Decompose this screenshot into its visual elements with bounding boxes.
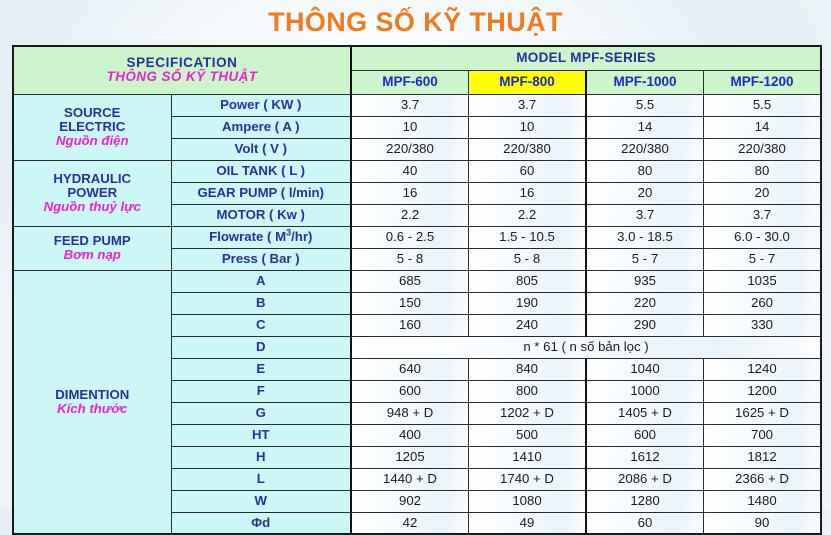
value-cell: 935: [586, 270, 704, 292]
value-cell: 220/380: [351, 138, 469, 160]
parameter-label: A: [256, 273, 266, 288]
table-body: SPECIFICATIONTHÔNG SỐ KỸ THUẬTMODEL MPF-…: [13, 46, 821, 534]
cell-value: 1405 + D: [618, 405, 672, 420]
cell-value: 1.5 - 10.5: [499, 229, 555, 244]
cell-value: 14: [755, 119, 770, 134]
cell-value: 500: [516, 427, 538, 442]
value-cell: 40: [351, 160, 469, 182]
value-cell: 220: [586, 292, 704, 314]
cell-value: 16: [520, 185, 535, 200]
cell-value: 3.7: [636, 207, 654, 222]
cell-value: 220/380: [738, 141, 786, 156]
parameter-label-cell: GEAR PUMP ( l/min): [171, 182, 351, 204]
cell-value: 5.5: [636, 97, 654, 112]
cell-value: 805: [516, 273, 538, 288]
value-cell: 60: [469, 160, 587, 182]
parameter-label: C: [256, 317, 266, 332]
value-cell: 16: [351, 182, 469, 204]
cell-value: 3.0 - 18.5: [617, 229, 673, 244]
value-cell: 948 + D: [351, 402, 469, 424]
parameter-label-cell: Ampere ( A ): [171, 116, 351, 138]
cell-value: 220/380: [503, 141, 551, 156]
value-cell: 1625 + D: [704, 402, 822, 424]
specification-label-en: SPECIFICATION: [17, 56, 347, 70]
value-cell: 1480: [704, 490, 822, 512]
model-series-label: MODEL MPF-SERIES: [516, 50, 656, 65]
value-cell: 49: [469, 512, 587, 534]
value-cell: 1405 + D: [586, 402, 704, 424]
value-cell: 1740 + D: [469, 468, 587, 490]
cell-value: 3.7: [518, 97, 536, 112]
value-cell: 600: [351, 380, 469, 402]
specification-label-vi: THÔNG SỐ KỸ THUẬT: [17, 70, 347, 84]
model-column-header-mpf-1200[interactable]: MPF-1200: [704, 70, 822, 94]
parameter-label: Ampere ( A ): [222, 119, 299, 134]
value-cell: 1812: [704, 446, 822, 468]
cell-value: 1202 + D: [500, 405, 554, 420]
parameter-label-cell: F: [171, 380, 351, 402]
cell-value: 1200: [747, 383, 776, 398]
parameter-label: Φd: [251, 515, 270, 530]
cell-value: 2366 + D: [735, 471, 789, 486]
parameter-label: HT: [252, 427, 270, 442]
value-cell: 1080: [469, 490, 587, 512]
value-cell: 10: [469, 116, 587, 138]
cell-value: 60: [638, 515, 653, 530]
cell-value: 2086 + D: [618, 471, 672, 486]
table-row: DIMENTIONKích thướcA6858059351035: [13, 270, 821, 292]
model-name-label: MPF-800: [499, 74, 555, 89]
value-cell: 14: [704, 116, 822, 138]
value-cell: 80: [704, 160, 822, 182]
value-cell: 1205: [351, 446, 469, 468]
value-cell: 290: [586, 314, 704, 336]
model-column-header-mpf-800[interactable]: MPF-800: [469, 70, 587, 94]
cell-value: 1812: [747, 449, 776, 464]
cell-value: 190: [516, 295, 538, 310]
value-cell: 20: [586, 182, 704, 204]
value-cell: 800: [469, 380, 587, 402]
cell-value: 640: [399, 361, 421, 376]
group-label-en: FEED PUMP: [17, 234, 168, 248]
cell-value: 600: [634, 427, 656, 442]
cell-value: 80: [638, 163, 653, 178]
value-cell: 1410: [469, 446, 587, 468]
parameter-label: G: [256, 405, 266, 420]
cell-value: 840: [516, 361, 538, 376]
cell-value: 0.6 - 2.5: [386, 229, 434, 244]
model-name-label: MPF-1000: [613, 74, 676, 89]
value-cell: 1440 + D: [351, 468, 469, 490]
cell-value: 700: [751, 427, 773, 442]
cell-value: 1240: [747, 361, 776, 376]
value-cell: 3.0 - 18.5: [586, 226, 704, 248]
cell-value: 14: [638, 119, 653, 134]
value-cell: 150: [351, 292, 469, 314]
model-column-header-mpf-600[interactable]: MPF-600: [351, 70, 469, 94]
group-label-cell-dimention: DIMENTIONKích thước: [13, 270, 171, 534]
parameter-label-cell: Volt ( V ): [171, 138, 351, 160]
cell-value: 400: [399, 427, 421, 442]
value-cell: 220/380: [469, 138, 587, 160]
specification-table-container: SPECIFICATIONTHÔNG SỐ KỸ THUẬTMODEL MPF-…: [12, 45, 820, 535]
cell-value: 948 + D: [387, 405, 434, 420]
cell-value: 1080: [512, 493, 541, 508]
cell-value: 1612: [630, 449, 659, 464]
cell-value: 20: [638, 185, 653, 200]
group-label-en-2: ELECTRIC: [17, 120, 168, 134]
value-cell: 640: [351, 358, 469, 380]
group-label-cell-source: SOURCEELECTRICNguồn điện: [13, 94, 171, 160]
value-cell: 1200: [704, 380, 822, 402]
value-cell: 1035: [704, 270, 822, 292]
model-name-label: MPF-1200: [730, 74, 793, 89]
cell-value: 1035: [747, 273, 776, 288]
value-cell: 1040: [586, 358, 704, 380]
parameter-label: Volt ( V ): [235, 141, 288, 156]
cell-value: 600: [399, 383, 421, 398]
cell-value: 1410: [512, 449, 541, 464]
parameter-label-cell: H: [171, 446, 351, 468]
value-cell: 500: [469, 424, 587, 446]
parameter-label-cell: D: [171, 336, 351, 358]
parameter-label: F: [257, 383, 265, 398]
cell-value: 1740 + D: [500, 471, 554, 486]
value-cell: 3.7: [704, 204, 822, 226]
cell-value: 49: [520, 515, 535, 530]
parameter-label: Power ( KW ): [220, 97, 301, 112]
cell-value: 290: [634, 317, 656, 332]
group-label-vi: Bơm nạp: [17, 248, 168, 262]
value-cell: 5.5: [704, 94, 822, 116]
table-row: FEED PUMPBơm nạpFlowrate ( M3/hr)0.6 - 2…: [13, 226, 821, 248]
parameter-label-cell: W: [171, 490, 351, 512]
cell-value: 1280: [630, 493, 659, 508]
cell-value: n * 61 ( n số bản lọc ): [523, 339, 648, 354]
cell-value: 5 - 8: [397, 251, 423, 266]
value-cell: 16: [469, 182, 587, 204]
value-cell: 0.6 - 2.5: [351, 226, 469, 248]
cell-value: 6.0 - 30.0: [734, 229, 790, 244]
page-title: THÔNG SỐ KỸ THUẬT: [0, 0, 831, 39]
cell-value: 5.5: [753, 97, 771, 112]
parameter-label-cell: E: [171, 358, 351, 380]
header-row-primary: SPECIFICATIONTHÔNG SỐ KỸ THUẬTMODEL MPF-…: [13, 46, 821, 70]
cell-value: 42: [403, 515, 418, 530]
value-cell: 10: [351, 116, 469, 138]
specification-header-cell: SPECIFICATIONTHÔNG SỐ KỸ THUẬT: [13, 46, 351, 94]
cell-value: 160: [399, 317, 421, 332]
value-cell: 2366 + D: [704, 468, 822, 490]
value-cell: 5.5: [586, 94, 704, 116]
value-cell: 260: [704, 292, 822, 314]
group-label-vi: Kích thước: [17, 402, 168, 416]
parameter-label-cell: B: [171, 292, 351, 314]
value-cell: 220/380: [586, 138, 704, 160]
value-cell: 700: [704, 424, 822, 446]
value-cell: 240: [469, 314, 587, 336]
cell-value: 2.2: [401, 207, 419, 222]
parameter-label-cell: Φd: [171, 512, 351, 534]
value-cell: 3.7: [586, 204, 704, 226]
cell-value: 220/380: [386, 141, 434, 156]
cell-value: 220: [634, 295, 656, 310]
parameter-label: MOTOR ( Kw ): [217, 207, 305, 222]
value-cell: 1000: [586, 380, 704, 402]
value-cell: 5 - 8: [469, 248, 587, 270]
group-label-en: DIMENTION: [17, 388, 168, 402]
cell-value: 330: [751, 317, 773, 332]
value-cell: 80: [586, 160, 704, 182]
table-row: HYDRAULICPOWERNguồn thuỷ lựcOIL TANK ( L…: [13, 160, 821, 182]
cell-value: 10: [403, 119, 418, 134]
cell-value: 220/380: [621, 141, 669, 156]
group-label-cell-hydraulic: HYDRAULICPOWERNguồn thuỷ lực: [13, 160, 171, 226]
parameter-label-cell: Press ( Bar ): [171, 248, 351, 270]
cell-value: 3.7: [753, 207, 771, 222]
parameter-label-cell: OIL TANK ( L ): [171, 160, 351, 182]
parameter-label-cell: Power ( KW ): [171, 94, 351, 116]
group-label-en: HYDRAULIC: [17, 172, 168, 186]
value-cell: 1240: [704, 358, 822, 380]
cell-value: 240: [516, 317, 538, 332]
value-cell: 840: [469, 358, 587, 380]
group-label-en-2: POWER: [17, 186, 168, 200]
value-cell: 1202 + D: [469, 402, 587, 424]
parameter-label: OIL TANK ( L ): [216, 163, 305, 178]
parameter-label-cell: A: [171, 270, 351, 292]
cell-value: 20: [755, 185, 770, 200]
model-name-label: MPF-600: [382, 74, 438, 89]
value-cell: 5 - 8: [351, 248, 469, 270]
cell-value: 5 - 8: [514, 251, 540, 266]
cell-value: 1205: [395, 449, 424, 464]
value-cell: 2.2: [469, 204, 587, 226]
cell-value: 902: [399, 493, 421, 508]
merged-value-cell: n * 61 ( n số bản lọc ): [351, 336, 821, 358]
value-cell: 90: [704, 512, 822, 534]
value-cell: 330: [704, 314, 822, 336]
parameter-label: B: [256, 295, 266, 310]
value-cell: 902: [351, 490, 469, 512]
cell-value: 1000: [630, 383, 659, 398]
parameter-label: Flowrate ( M3/hr): [209, 229, 312, 244]
group-label-vi: Nguồn điện: [17, 134, 168, 148]
cell-value: 60: [520, 163, 535, 178]
value-cell: 20: [704, 182, 822, 204]
value-cell: 400: [351, 424, 469, 446]
cell-value: 935: [634, 273, 656, 288]
value-cell: 2.2: [351, 204, 469, 226]
value-cell: 805: [469, 270, 587, 292]
parameter-label-cell: C: [171, 314, 351, 336]
cell-value: 10: [520, 119, 535, 134]
value-cell: 42: [351, 512, 469, 534]
cell-value: 16: [403, 185, 418, 200]
cell-value: 260: [751, 295, 773, 310]
parameter-label-cell: MOTOR ( Kw ): [171, 204, 351, 226]
parameter-label-cell: Flowrate ( M3/hr): [171, 226, 351, 248]
value-cell: 3.7: [351, 94, 469, 116]
cell-value: 5 - 7: [632, 251, 658, 266]
cell-value: 40: [403, 163, 418, 178]
parameter-label: E: [256, 361, 265, 376]
value-cell: 600: [586, 424, 704, 446]
value-cell: 5 - 7: [586, 248, 704, 270]
model-series-header: MODEL MPF-SERIES: [351, 46, 821, 70]
value-cell: 2086 + D: [586, 468, 704, 490]
value-cell: 14: [586, 116, 704, 138]
cell-value: 1440 + D: [383, 471, 437, 486]
group-label-vi: Nguồn thuỷ lực: [17, 200, 168, 214]
parameter-label: L: [257, 471, 265, 486]
value-cell: 220/380: [704, 138, 822, 160]
parameter-label: GEAR PUMP ( l/min): [197, 185, 324, 200]
parameter-label-cell: HT: [171, 424, 351, 446]
specification-table: SPECIFICATIONTHÔNG SỐ KỸ THUẬTMODEL MPF-…: [12, 45, 822, 535]
value-cell: 60: [586, 512, 704, 534]
cell-value: 1040: [630, 361, 659, 376]
table-row: SOURCEELECTRICNguồn điệnPower ( KW )3.73…: [13, 94, 821, 116]
model-column-header-mpf-1000[interactable]: MPF-1000: [586, 70, 704, 94]
parameter-label: D: [256, 339, 266, 354]
value-cell: 160: [351, 314, 469, 336]
value-cell: 1612: [586, 446, 704, 468]
cell-value: 685: [399, 273, 421, 288]
cell-value: 3.7: [401, 97, 419, 112]
value-cell: 685: [351, 270, 469, 292]
value-cell: 5 - 7: [704, 248, 822, 270]
cell-value: 2.2: [518, 207, 536, 222]
cell-value: 80: [755, 163, 770, 178]
cell-value: 150: [399, 295, 421, 310]
parameter-label: Press ( Bar ): [222, 251, 300, 266]
parameter-label-cell: G: [171, 402, 351, 424]
cell-value: 800: [516, 383, 538, 398]
value-cell: 6.0 - 30.0: [704, 226, 822, 248]
cell-value: 1625 + D: [735, 405, 789, 420]
parameter-label: H: [256, 449, 266, 464]
cell-value: 1480: [747, 493, 776, 508]
value-cell: 3.7: [469, 94, 587, 116]
cell-value: 90: [755, 515, 770, 530]
group-label-en: SOURCE: [17, 106, 168, 120]
parameter-label-cell: L: [171, 468, 351, 490]
value-cell: 1280: [586, 490, 704, 512]
group-label-cell-feed-pump: FEED PUMPBơm nạp: [13, 226, 171, 270]
value-cell: 190: [469, 292, 587, 314]
cell-value: 5 - 7: [749, 251, 775, 266]
value-cell: 1.5 - 10.5: [469, 226, 587, 248]
parameter-label: W: [255, 493, 267, 508]
